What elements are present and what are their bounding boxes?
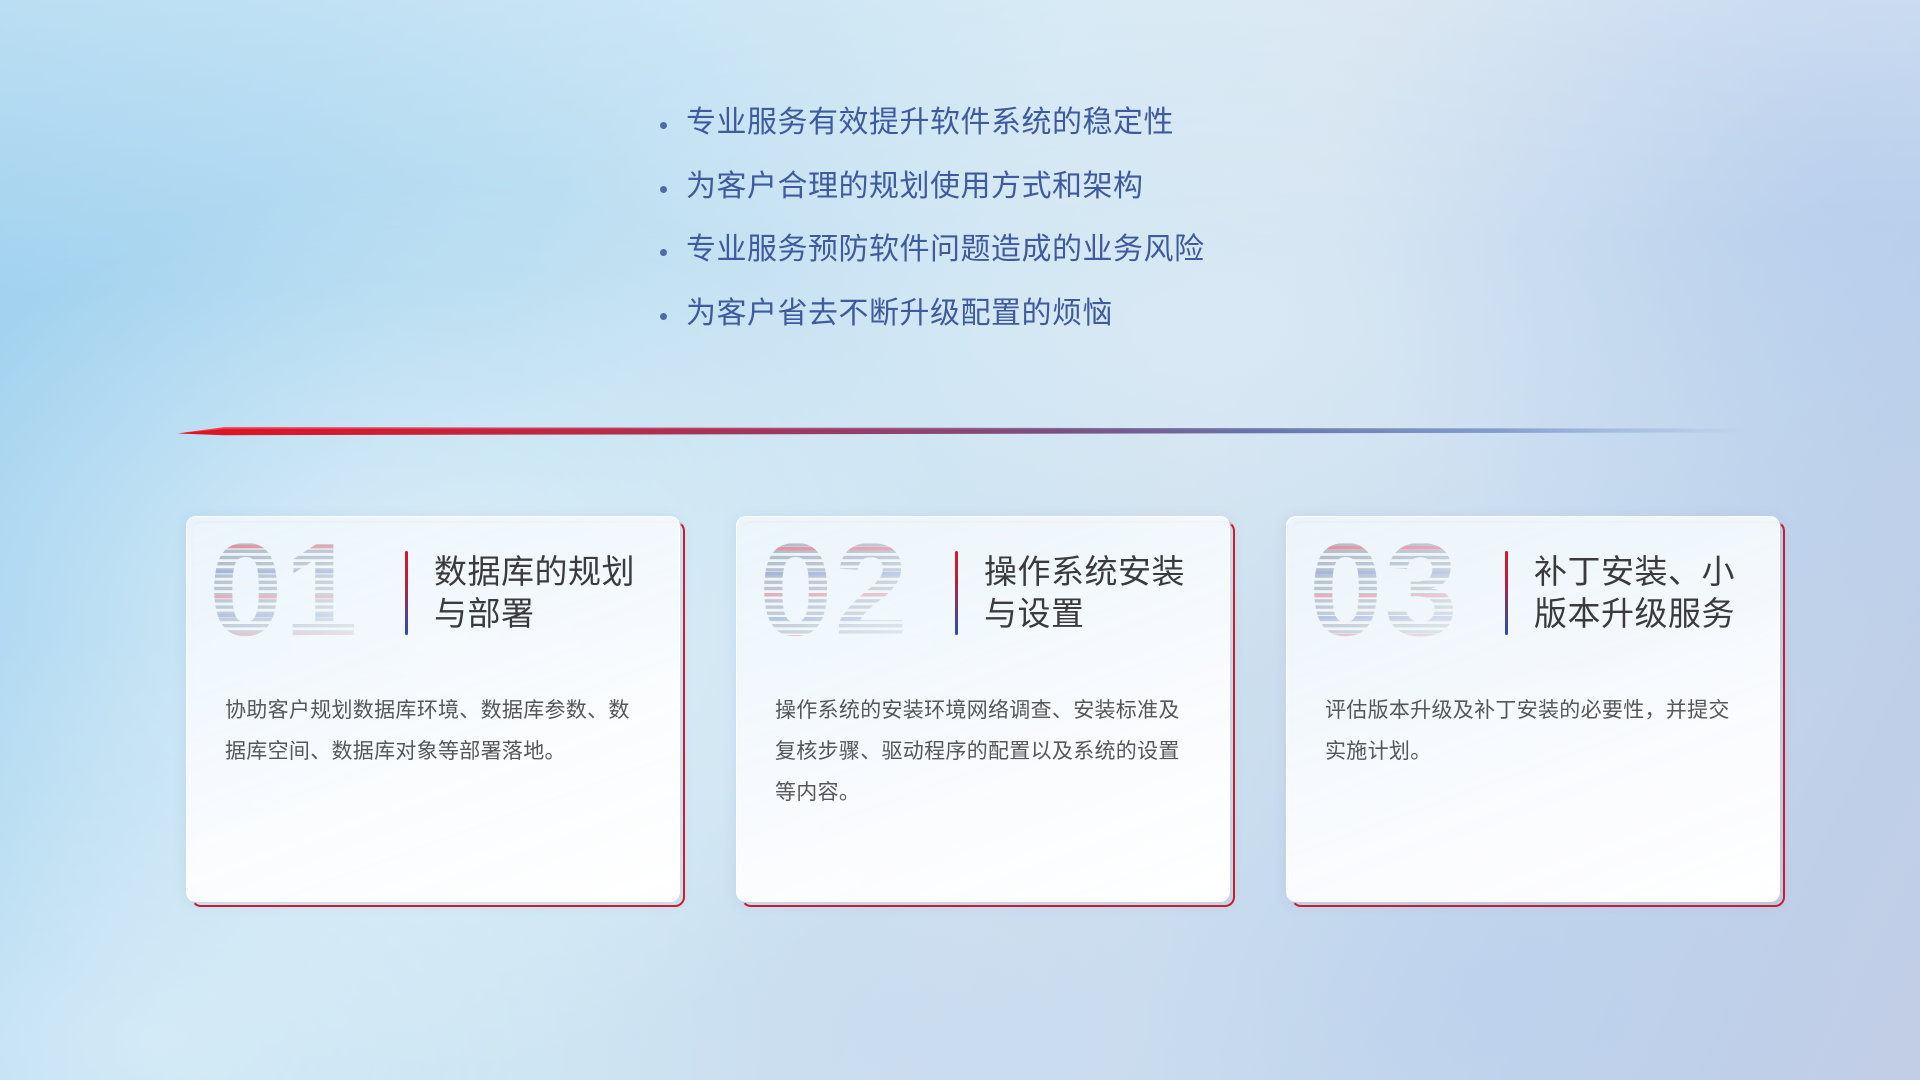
card-header: 02 [737,517,1229,669]
card-title-rule [955,551,958,635]
card-body-text: 协助客户规划数据库环境、数据库参数、数据库空间、数据库对象等部署落地。 [187,669,679,773]
service-card[interactable]: 01 [186,516,680,902]
card-surface: 01 [186,516,680,902]
service-card-list: 01 [0,516,1920,936]
card-number-03: 03 [1309,531,1499,655]
section-divider [178,420,1750,442]
bullet-item-label: 专业服务有效提升软件系统的稳定性 [686,104,1174,142]
slide-canvas: 专业服务有效提升软件系统的稳定性 为客户合理的规划使用方式和架构 专业服务预防软… [0,0,1920,1080]
card-title-rule [405,551,408,635]
card-body-text: 评估版本升级及补丁安装的必要性，并提交实施计划。 [1287,669,1779,773]
bullet-item: 专业服务预防软件问题造成的业务风险 [660,231,1480,269]
service-card[interactable]: 03 [1286,516,1780,902]
service-card[interactable]: 02 [736,516,1230,902]
bullet-item: 为客户省去不断升级配置的烦恼 [660,295,1480,333]
card-title: 操作系统安装与设置 [984,551,1214,635]
bullet-item-label: 专业服务预防软件问题造成的业务风险 [686,231,1205,269]
bullet-dot-icon [660,313,686,320]
card-number-01: 01 [209,531,399,655]
divider-wedge-icon [178,420,1750,442]
card-header: 01 [187,517,679,669]
bullet-dot-icon [660,122,686,129]
bullet-dot-icon [660,249,686,256]
bullet-item: 为客户合理的规划使用方式和架构 [660,168,1480,206]
bullet-dot-icon [660,186,686,193]
card-header: 03 [1287,517,1779,669]
bullet-item-label: 为客户合理的规划使用方式和架构 [686,168,1144,206]
card-surface: 02 [736,516,1230,902]
card-title-rule [1505,551,1508,635]
card-number-02: 02 [759,531,949,655]
benefits-bullet-list: 专业服务有效提升软件系统的稳定性 为客户合理的规划使用方式和架构 专业服务预防软… [660,104,1480,358]
card-body-text: 操作系统的安装环境网络调查、安装标准及复核步骤、驱动程序的配置以及系统的设置等内… [737,669,1229,814]
striped-number-icon: 03 [1309,531,1499,655]
bullet-item-label: 为客户省去不断升级配置的烦恼 [686,295,1113,333]
striped-number-icon: 02 [759,531,949,655]
bullet-item: 专业服务有效提升软件系统的稳定性 [660,104,1480,142]
card-surface: 03 [1286,516,1780,902]
card-title: 数据库的规划与部署 [434,551,664,635]
card-title: 补丁安装、小版本升级服务 [1534,551,1764,635]
striped-number-icon: 01 [209,531,399,655]
